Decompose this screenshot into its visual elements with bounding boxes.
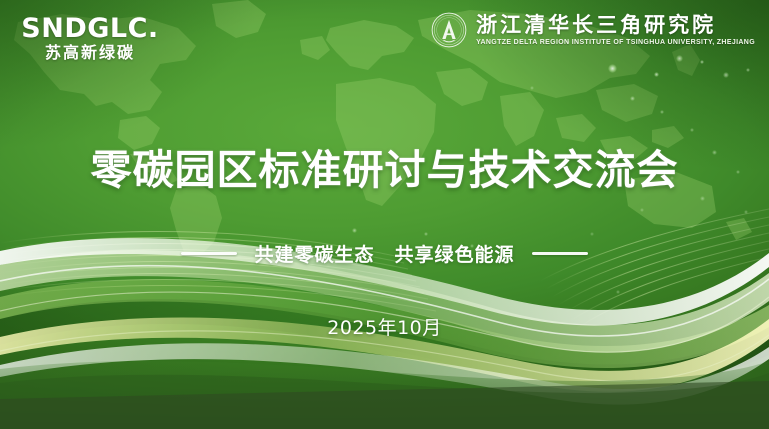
logo-name-cn: 苏高新绿碳 (45, 46, 135, 62)
institute-name-en: YANGTZE DELTA REGION INSTITUTE OF TSINGH… (476, 39, 755, 47)
flowing-ribbon-waves (0, 169, 769, 429)
event-date: 2025年10月 (0, 313, 769, 340)
institute-name-cn: 浙江清华长三角研究院 (476, 13, 755, 37)
rule-right-icon (532, 252, 588, 255)
rule-left-icon (181, 252, 237, 255)
conference-banner: SNDGLC. 苏高新绿碳 浙江清华长三角研究院 YANGTZE DELTA R… (0, 0, 769, 429)
logo-tsinghua-yangtze-delta[interactable]: 浙江清华长三角研究院 YANGTZE DELTA REGION INSTITUT… (431, 12, 755, 48)
pagoda-seal-icon (431, 12, 467, 48)
subtitle-text: 共建零碳生态 共享绿色能源 (254, 240, 514, 267)
page-title: 零碳园区标准研讨与技术交流会 (0, 148, 769, 193)
logo-sndglc[interactable]: SNDGLC. 苏高新绿碳 (20, 10, 160, 66)
subtitle-row: 共建零碳生态 共享绿色能源 (0, 240, 769, 267)
logo-wordmark: SNDGLC. (21, 15, 158, 42)
